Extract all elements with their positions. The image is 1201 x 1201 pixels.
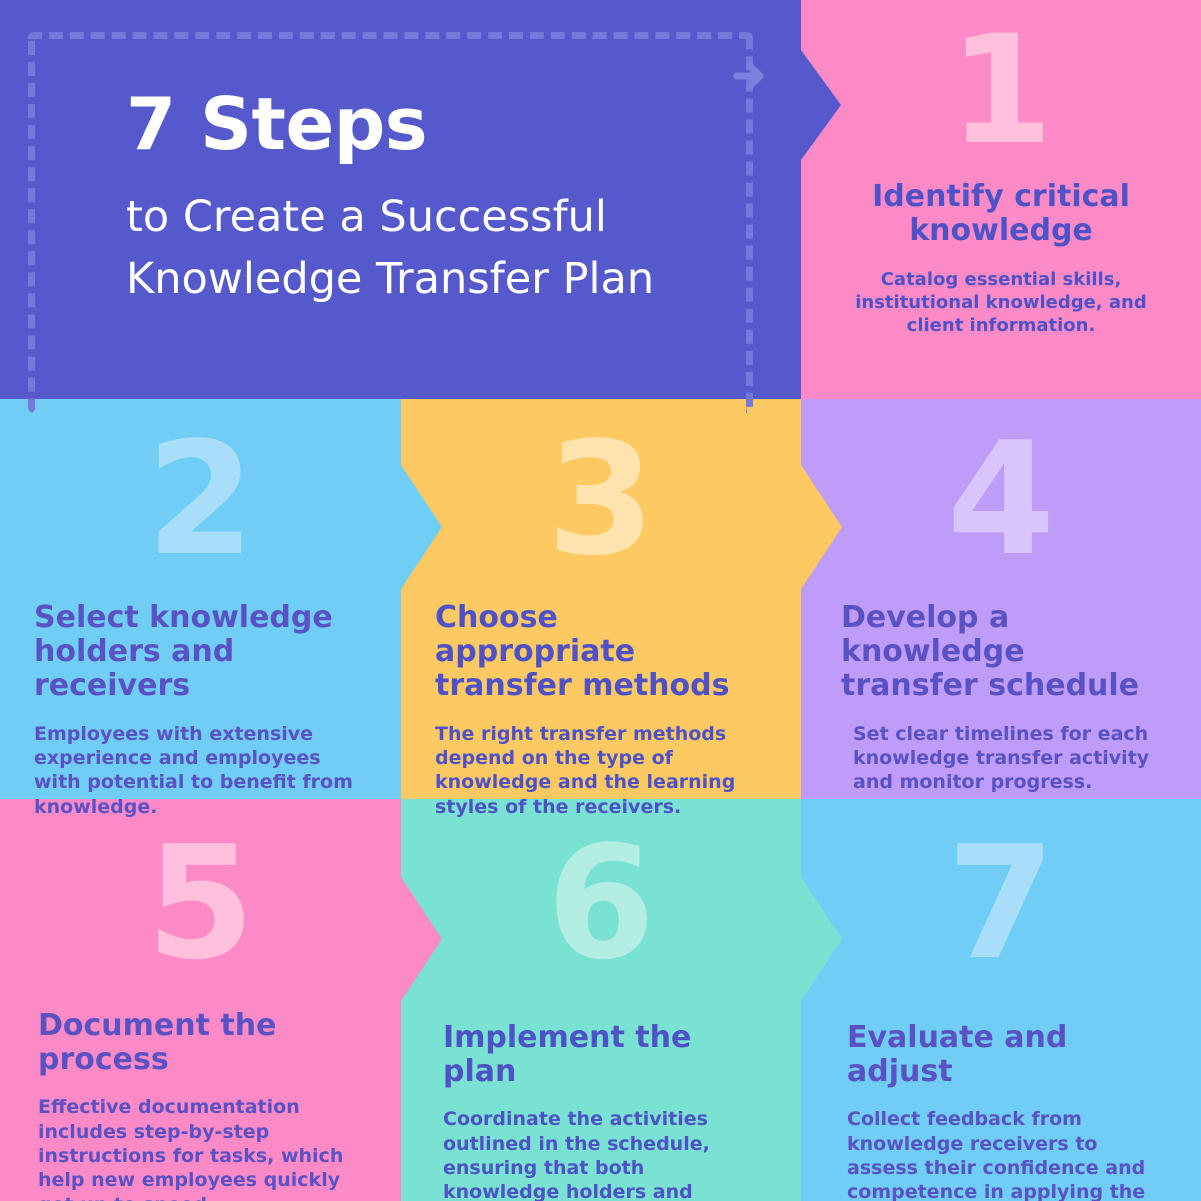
- infographic-canvas: 7 Steps to Create a Successful Knowledge…: [0, 0, 1201, 1201]
- step-card-2[interactable]: 2 Select knowledge holders and receivers…: [0, 399, 401, 799]
- step-title-4: Develop a knowledge transfer schedule: [841, 601, 1161, 704]
- arrow-right-icon: [725, 53, 771, 99]
- header-arrow-connector: [801, 50, 841, 160]
- step-title-5: Document the process: [38, 1009, 363, 1077]
- step-number-1: 1: [847, 16, 1155, 166]
- chevron-connector-5: [401, 877, 442, 1001]
- page-title: 7 Steps: [126, 88, 801, 160]
- header-panel: 7 Steps to Create a Successful Knowledge…: [0, 0, 801, 399]
- step-card-4[interactable]: 4 Develop a knowledge transfer schedule …: [801, 399, 1201, 799]
- step-card-7[interactable]: 7 Evaluate and adjust Collect feedback f…: [801, 799, 1201, 1201]
- step-title-2: Select knowledge holders and receivers: [34, 601, 367, 704]
- chevron-connector-3: [801, 465, 842, 589]
- step-title-1: Identify critical knowledge: [847, 180, 1155, 248]
- step-number-4: 4: [841, 421, 1161, 577]
- step-title-3: Choose appropriate transfer methods: [435, 601, 767, 704]
- step-description-5: Effective documentation includes step-by…: [38, 1095, 363, 1201]
- step-number-2: 2: [34, 421, 367, 577]
- step-description-4: Set clear timelines for each knowledge t…: [853, 722, 1161, 795]
- step-title-6: Implement the plan: [443, 1021, 759, 1089]
- header-text-block: 7 Steps to Create a Successful Knowledge…: [0, 0, 801, 311]
- chevron-connector-2: [401, 465, 442, 589]
- step-card-5[interactable]: 5 Document the process Effective documen…: [0, 799, 401, 1201]
- arrow-triangle-shape: [801, 50, 841, 160]
- step-card-1[interactable]: 1 Identify critical knowledge Catalog es…: [801, 0, 1201, 399]
- step-card-3[interactable]: 3 Choose appropriate transfer methods Th…: [401, 399, 801, 799]
- step-description-1: Catalog essential skills, institutional …: [847, 268, 1155, 337]
- step-number-3: 3: [435, 421, 767, 577]
- step-number-6: 6: [443, 825, 759, 981]
- step-card-6[interactable]: 6 Implement the plan Coordinate the acti…: [401, 799, 801, 1201]
- step-title-7: Evaluate and adjust: [847, 1021, 1155, 1089]
- step-description-6: Coordinate the activities outlined in th…: [443, 1107, 759, 1201]
- page-subtitle: to Create a Successful Knowledge Transfe…: [126, 186, 766, 311]
- step-number-5: 5: [38, 825, 363, 981]
- chevron-connector-6: [801, 877, 842, 1001]
- step-number-7: 7: [847, 825, 1155, 981]
- step-description-7: Collect feedback from knowledge receiver…: [847, 1107, 1155, 1201]
